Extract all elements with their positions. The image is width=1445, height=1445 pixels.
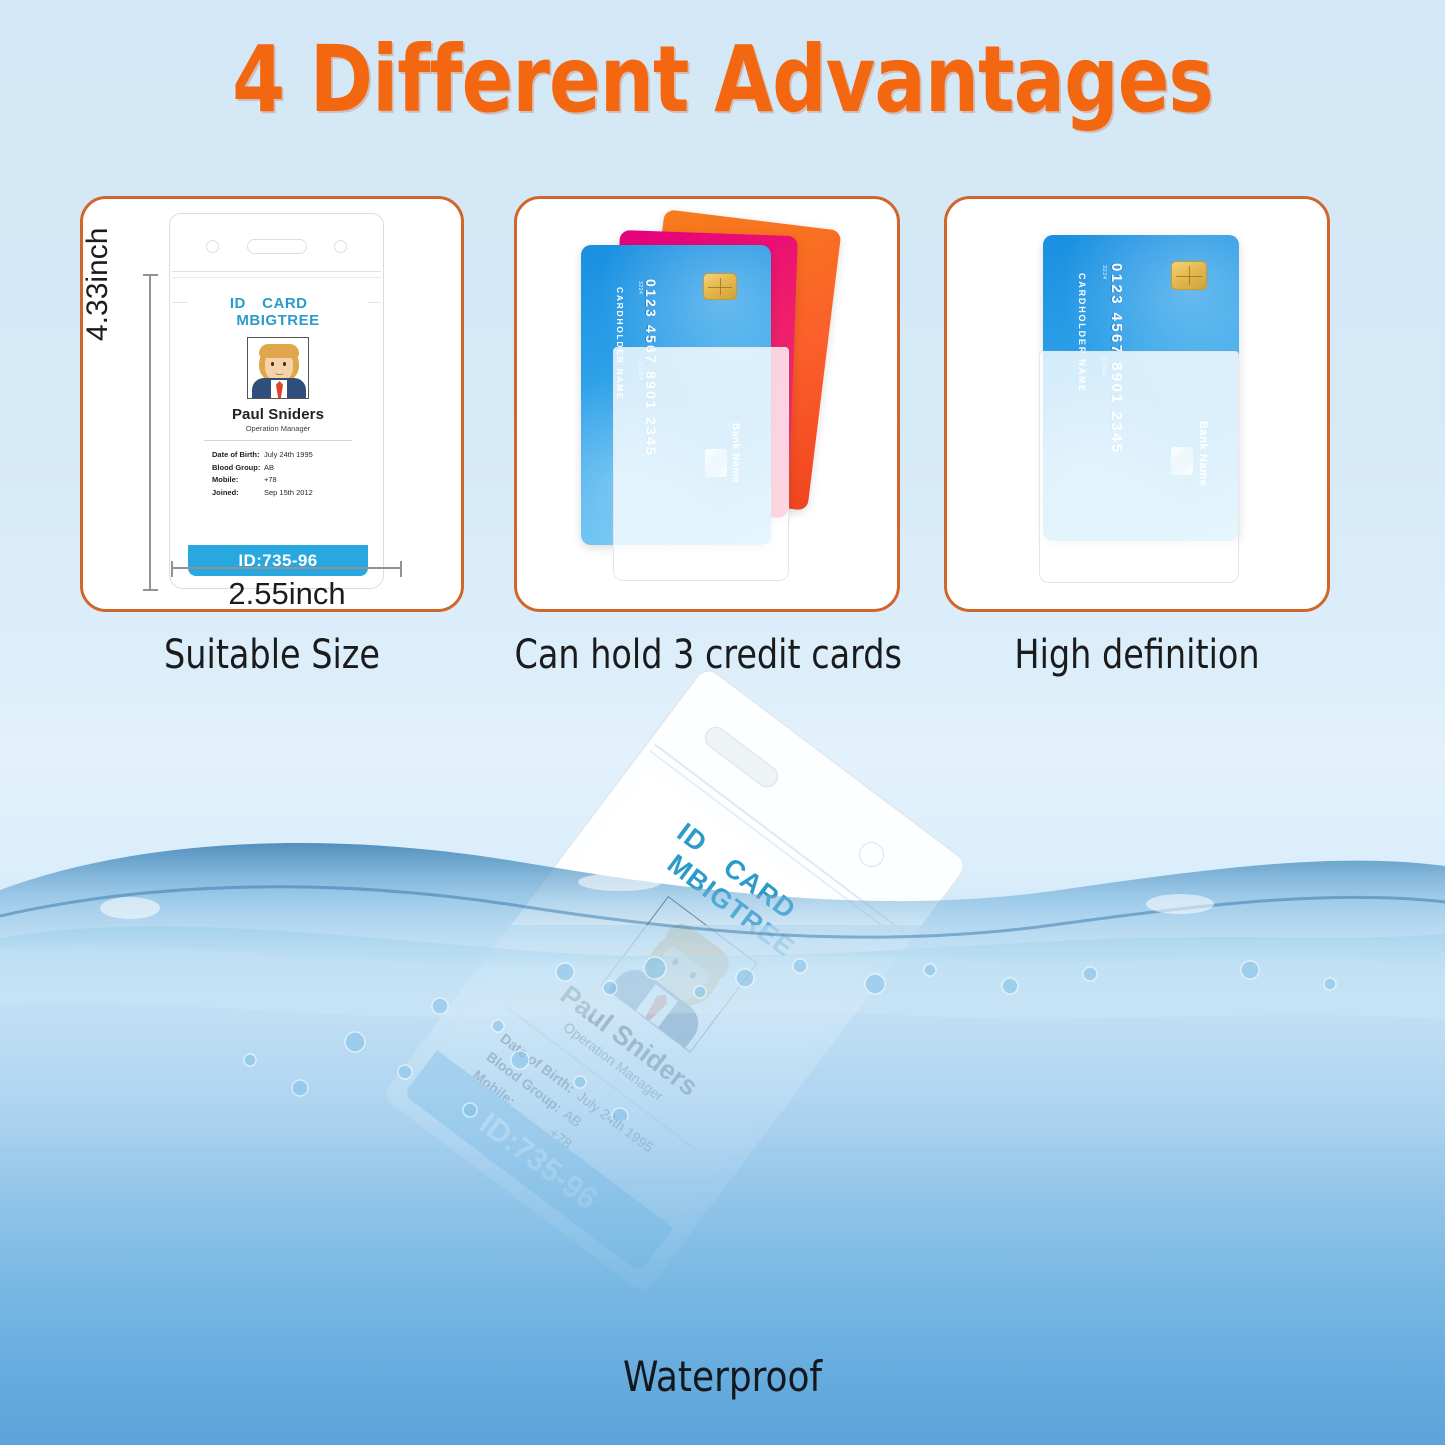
- id-card-header-right: MBIGTREE: [236, 312, 319, 329]
- id-card-id-bar: ID:735-96: [188, 545, 368, 576]
- credit-card-small-label: 3224: [637, 281, 643, 295]
- holder-seam: [172, 277, 381, 278]
- dimension-width-cap-right: [400, 561, 402, 577]
- dimension-width-line: [171, 567, 401, 569]
- holder-slot-icon: [247, 239, 307, 254]
- holder-seam: [172, 271, 381, 272]
- water-surface-icon: [0, 820, 1445, 1120]
- advantage-panel-high-definition: CARDHOLDER NAME 0123 4567 8901 2345 3224…: [944, 196, 1330, 612]
- credit-card-small-label: 3224: [1101, 265, 1107, 280]
- dimension-width-label: 2.55inch: [147, 576, 427, 612]
- page-title: 4 Different Advantages: [58, 26, 1387, 133]
- id-card: ID CARD MBIGTREE Paul Sniders Operation …: [188, 286, 368, 576]
- avatar: [247, 337, 309, 399]
- panel-caption-suitable-size: Suitable Size: [93, 632, 450, 678]
- id-card-header-left: ID: [230, 295, 246, 312]
- id-card-detail-row: Mobile: +78: [212, 474, 368, 487]
- card-holder-pocket: [1039, 351, 1239, 583]
- holder-slot-icon: [701, 722, 783, 791]
- badge-holder-outline: ID CARD MBIGTREE Paul Sniders Operation …: [169, 213, 384, 589]
- credit-card-chip-icon: [703, 273, 737, 300]
- id-card-header: ID CARD MBIGTREE: [188, 286, 368, 329]
- id-card-name: Paul Sniders: [188, 406, 368, 423]
- holder-hole-left-icon: [206, 240, 219, 253]
- holder-hole-right-icon: [334, 240, 347, 253]
- advantage-panel-credit-cards: CARDHOLDER NAME CARDHOLDER NAME 0123 456…: [514, 196, 900, 612]
- waterproof-scene: ID CARD MBIGTREE Paul Sniders Operation …: [0, 700, 1445, 1445]
- id-card-details: Date of Birth: July 24th 1995 Blood Grou…: [212, 449, 368, 499]
- card-holder-pocket: [613, 347, 789, 581]
- id-card-role: Operation Manager: [188, 424, 368, 433]
- id-card-detail-row: Date of Birth: July 24th 1995: [212, 449, 368, 462]
- dimension-width-cap-left: [171, 561, 173, 577]
- dimension-height-line: [149, 274, 151, 590]
- waterproof-caption: Waterproof: [36, 1352, 1409, 1401]
- panel-caption-high-definition: High definition: [958, 632, 1317, 678]
- id-card-detail-row: Joined: Sep 15th 2012: [212, 487, 368, 500]
- dimension-height-label: 4.33inch: [81, 228, 115, 341]
- divider: [204, 440, 352, 441]
- id-card-header-mid: CARD: [262, 295, 307, 312]
- id-card-detail-row: Blood Group: AB: [212, 462, 368, 475]
- advantage-panel-suitable-size: 4.33inch ID CARD MBIGTREE Paul Sniders O…: [80, 196, 464, 612]
- credit-card-chip-icon: [1171, 261, 1207, 290]
